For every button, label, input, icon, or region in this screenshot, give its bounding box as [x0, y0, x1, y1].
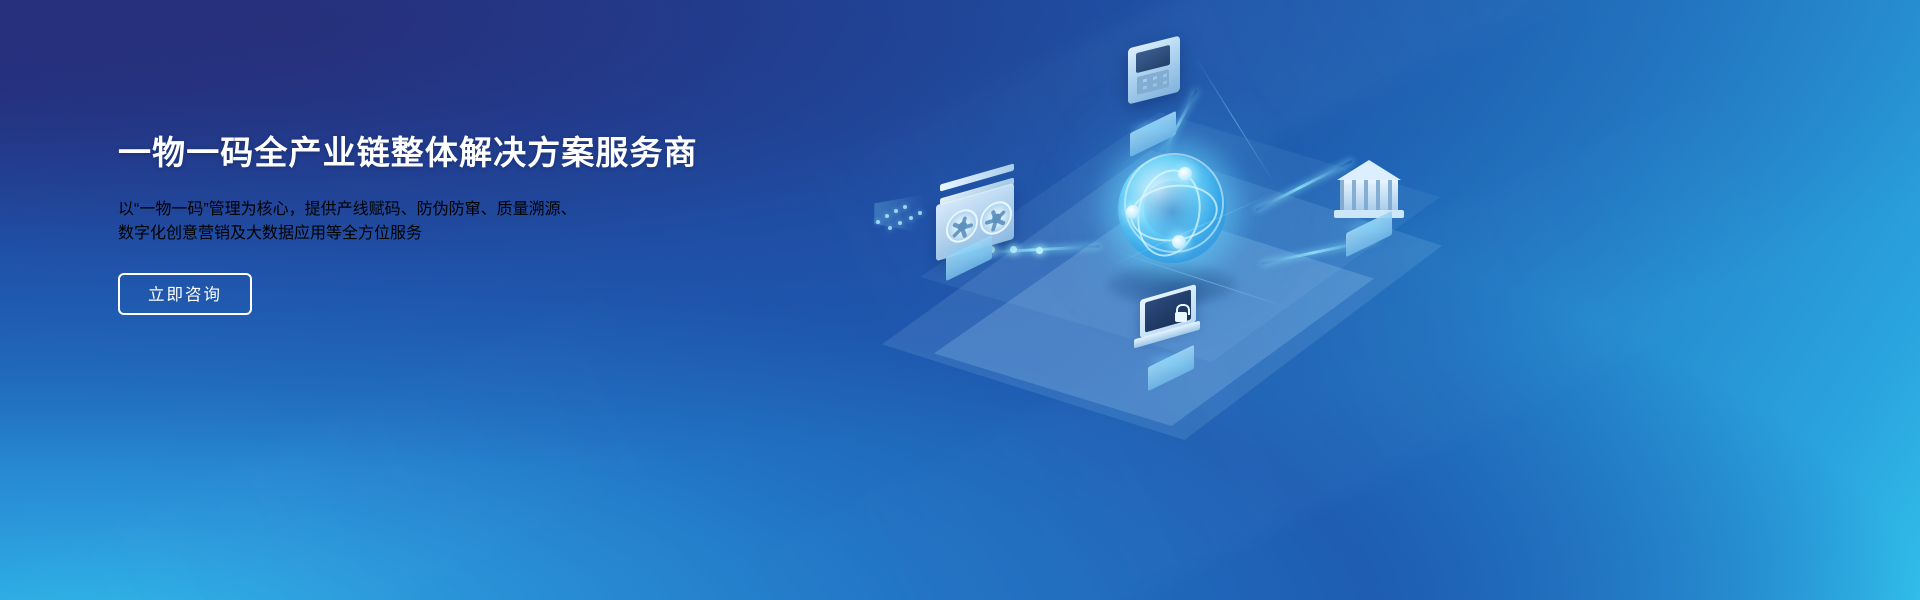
barcode-scanner-icon: [874, 192, 938, 236]
consult-now-button[interactable]: 立即咨询: [118, 273, 252, 315]
hero-headline: 一物一码全产业链整体解决方案服务商: [118, 132, 758, 173]
hero-banner: 一物一码全产业链整体解决方案服务商 以“一物一码”管理为核心，提供产线赋码、防伪…: [0, 0, 1920, 600]
hero-copy-block: 一物一码全产业链整体解决方案服务商 以“一物一码”管理为核心，提供产线赋码、防伪…: [118, 132, 758, 315]
hero-subtitle-line-1: 以“一物一码”管理为核心，提供产线赋码、防伪防窜、质量溯源、: [118, 195, 758, 219]
network-sphere-icon: [1118, 155, 1226, 263]
cta-container: 立即咨询: [118, 273, 758, 315]
hero-subtitle-line-2: 数字化创意营销及大数据应用等全方位服务: [118, 219, 758, 243]
isometric-illustration: [860, 0, 1920, 600]
